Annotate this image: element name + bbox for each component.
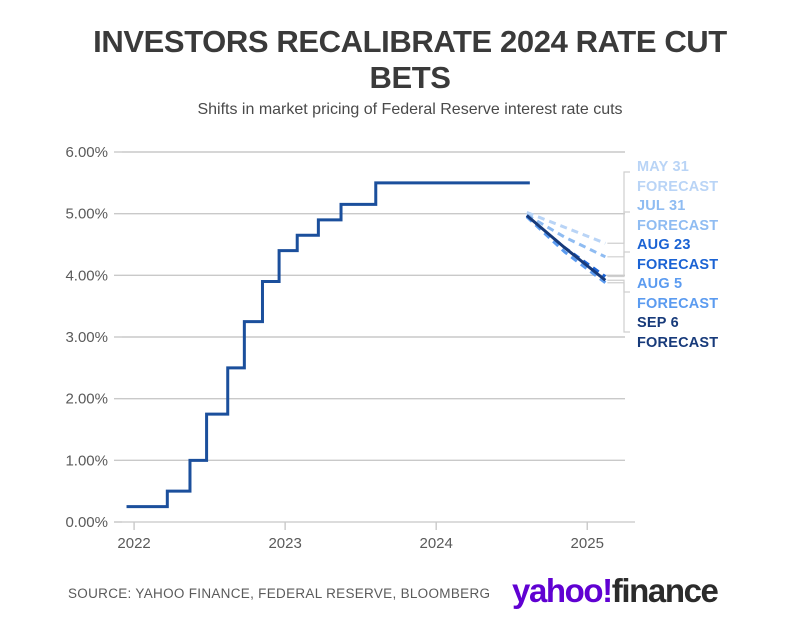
legend-connector — [607, 252, 630, 277]
svg-text:4.00%: 4.00% — [65, 267, 108, 284]
legend-item-date: SEP 6 — [637, 314, 802, 334]
yahoo-finance-logo: yahoo!finance — [512, 572, 718, 610]
svg-text:3.00%: 3.00% — [65, 329, 108, 346]
legend-item-date: MAY 31 — [637, 158, 802, 178]
legend-item-word: FORECAST — [637, 178, 802, 198]
legend-item-jul-31: JUL 31 FORECAST — [637, 197, 802, 236]
svg-text:2.00%: 2.00% — [65, 391, 108, 408]
legend-item-date: JUL 31 — [637, 197, 802, 217]
legend-connector — [607, 212, 630, 257]
svg-text:1.00%: 1.00% — [65, 452, 108, 469]
legend-item-date: AUG 5 — [637, 275, 802, 295]
source-note: SOURCE: YAHOO FINANCE, FEDERAL RESERVE, … — [68, 586, 490, 601]
svg-text:2024: 2024 — [419, 535, 452, 552]
x-axis-tick-labels: 2022202320242025 — [117, 535, 604, 552]
series-line — [527, 216, 606, 281]
series-line — [127, 183, 530, 507]
svg-text:6.00%: 6.00% — [65, 144, 108, 161]
svg-text:2025: 2025 — [571, 535, 604, 552]
legend-item-date: AUG 23 — [637, 236, 802, 256]
legend-connector — [607, 283, 630, 292]
y-axis-tick-labels: 0.00%1.00%2.00%3.00%4.00%5.00%6.00% — [65, 144, 108, 531]
data-series — [127, 183, 606, 507]
legend-item-word: FORECAST — [637, 295, 802, 315]
legend: MAY 31 FORECAST JUL 31 FORECAST AUG 23 F… — [637, 158, 802, 353]
svg-text:2023: 2023 — [268, 535, 301, 552]
legend-connector — [607, 280, 630, 332]
legend-item-word: FORECAST — [637, 217, 802, 237]
legend-connector — [607, 172, 630, 243]
x-axis — [114, 522, 635, 530]
legend-item-sep-6: SEP 6 FORECAST — [637, 314, 802, 353]
legend-item-word: FORECAST — [637, 256, 802, 276]
legend-item-aug-23: AUG 23 FORECAST — [637, 236, 802, 275]
svg-text:2022: 2022 — [117, 535, 150, 552]
logo-product-text: finance — [612, 572, 718, 609]
legend-item-aug-5: AUG 5 FORECAST — [637, 275, 802, 314]
chart-container: INVESTORS RECALIBRATE 2024 RATE CUT BETS… — [0, 0, 808, 621]
svg-text:5.00%: 5.00% — [65, 206, 108, 223]
legend-connectors — [607, 172, 630, 332]
svg-text:0.00%: 0.00% — [65, 514, 108, 531]
legend-item-word: FORECAST — [637, 334, 802, 354]
legend-item-may-31: MAY 31 FORECAST — [637, 158, 802, 197]
logo-brand-text: yahoo! — [512, 572, 612, 609]
